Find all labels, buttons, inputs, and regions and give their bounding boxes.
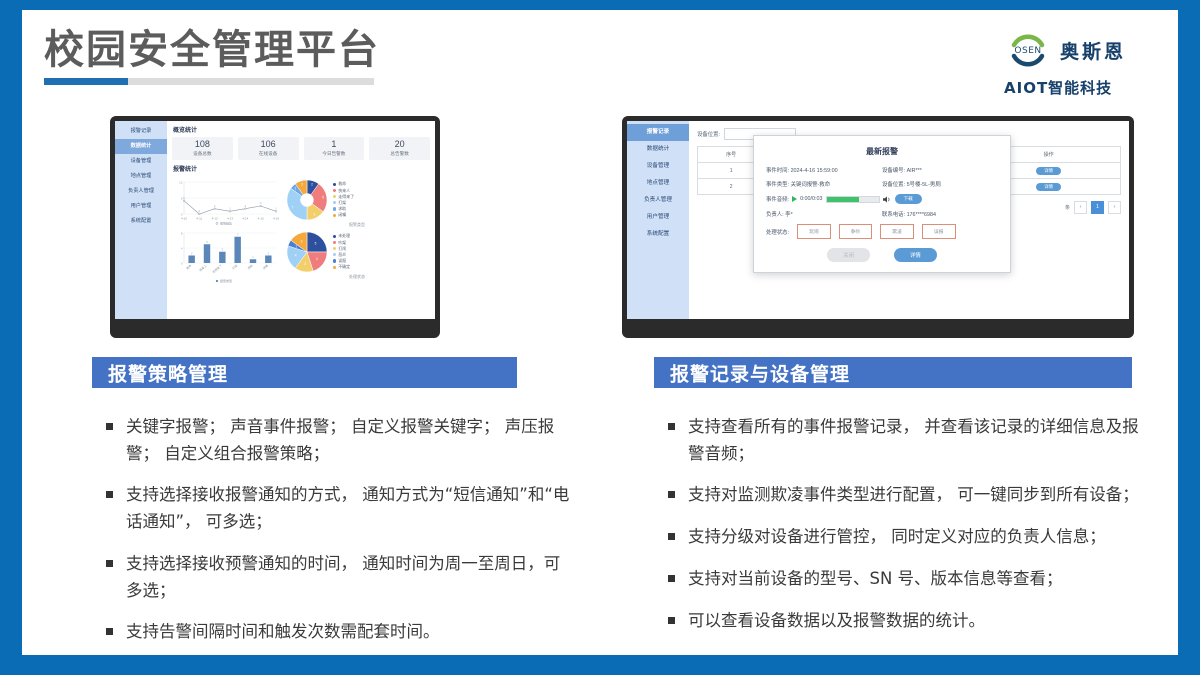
modal-row-audio[interactable]: 事件音频: 0:00/0:03 下载 bbox=[766, 194, 998, 204]
stat-label: 今日告警数 bbox=[304, 151, 365, 157]
event-time-value: 2024-4-16 15:59:00 bbox=[791, 168, 838, 174]
modal-row-time-deviceid: 事件时间: 2024-4-16 15:59:00 设备编号: AIR*** bbox=[766, 166, 998, 174]
sidebar-item-system-config[interactable]: 系统配置 bbox=[115, 214, 167, 229]
detail-button[interactable]: 详情 bbox=[894, 248, 937, 262]
svg-text:3: 3 bbox=[260, 201, 262, 205]
sidebar-item-statistics[interactable]: 数据统计 bbox=[627, 141, 689, 158]
detail-button[interactable]: 详情 bbox=[1036, 167, 1061, 175]
status-option-playful[interactable]: 玩闹 bbox=[797, 224, 831, 239]
status-option-quarrel[interactable]: 争吵 bbox=[839, 224, 873, 239]
stat-label: 在线设备 bbox=[238, 151, 299, 157]
svg-text:5: 5 bbox=[206, 240, 208, 244]
sidebar-item-location-mgmt[interactable]: 地点管理 bbox=[627, 175, 689, 192]
svg-text:4-13: 4-13 bbox=[227, 216, 233, 220]
sidebar-item-device-mgmt[interactable]: 设备管理 bbox=[115, 154, 167, 169]
list-item: 支持选择接收报警通知的方式， 通知方式为“短信通知”和“电话通知”， 可多选； bbox=[100, 482, 570, 535]
left-dashboard-sidebar[interactable]: 报警记录 数据统计 设备管理 地点管理 负责人管理 用户管理 系统配置 bbox=[115, 121, 167, 319]
list-item: 支持分级对设备进行管控， 同时定义对应的负责人信息； bbox=[662, 524, 1140, 551]
pagination-next-icon[interactable]: › bbox=[1108, 201, 1121, 214]
osen-ring-icon: OSEN bbox=[1004, 26, 1052, 74]
legend-item: 走得来了 bbox=[333, 194, 354, 200]
bullet-list-right: 支持查看所有的事件报警记录， 并查看该记录的详细信息及报警音频； 支持对监测欺凌… bbox=[662, 414, 1140, 649]
sidebar-item-alarm-records[interactable]: 报警记录 bbox=[115, 124, 167, 139]
svg-text:4-12: 4-12 bbox=[212, 216, 218, 220]
stat-value: 1 bbox=[304, 140, 365, 150]
list-item: 可以查看设备数据以及报警数据的统计。 bbox=[662, 608, 1140, 635]
title-underline-accent bbox=[44, 78, 128, 85]
alarm-statistics-heading: 报警统计 bbox=[173, 164, 430, 173]
svg-text:2: 2 bbox=[301, 182, 303, 186]
svg-text:2: 2 bbox=[268, 251, 270, 255]
pagination-page-1[interactable]: 1 bbox=[1091, 201, 1104, 214]
list-item: 支持对监测欺凌事件类型进行配置， 可一键同步到所有设备； bbox=[662, 482, 1140, 509]
event-type-value: 关键词报警-救命 bbox=[791, 182, 831, 188]
alarm-type-bar-chart: 0482救命5快来人3走得来了7打架1求助2闭嘴报警类型 bbox=[172, 227, 280, 283]
svg-text:5: 5 bbox=[322, 195, 324, 199]
stat-label: 总告警数 bbox=[369, 151, 430, 157]
svg-text:OSEN: OSEN bbox=[1014, 46, 1041, 56]
owner-value: 李* bbox=[785, 212, 793, 218]
svg-text:4: 4 bbox=[316, 257, 318, 261]
svg-text:1: 1 bbox=[275, 206, 277, 210]
modal-title: 最新报警 bbox=[766, 146, 998, 157]
svg-text:4-10: 4-10 bbox=[181, 216, 187, 220]
owner-label: 负责人: bbox=[766, 212, 784, 218]
detail-button[interactable]: 详情 bbox=[1036, 183, 1061, 191]
sidebar-item-device-mgmt[interactable]: 设备管理 bbox=[627, 158, 689, 175]
device-id-label: 设备编号: bbox=[882, 168, 905, 174]
svg-text:0: 0 bbox=[199, 209, 201, 213]
logo-tagline: AIOT智能科技 bbox=[1004, 77, 1164, 98]
page-title-block: 校园安全管理平台 bbox=[44, 28, 380, 85]
device-id-value: AIR*** bbox=[907, 168, 922, 174]
right-records-screenshot: 报警记录 数据统计 设备管理 地点管理 负责人管理 用户管理 系统配置 设备位置… bbox=[622, 116, 1134, 338]
legend-item: 未处理 bbox=[333, 233, 350, 239]
stat-value: 106 bbox=[238, 140, 299, 150]
stat-card-total-devices: 108 设备总数 bbox=[172, 137, 233, 160]
list-item: 关键字报警； 声音事件报警； 自定义报警关键字； 声压报警； 自定义组合报警策略… bbox=[100, 414, 570, 467]
svg-text:1: 1 bbox=[295, 186, 297, 190]
left-dashboard-screenshot: 报警记录 数据统计 设备管理 地点管理 负责人管理 用户管理 系统配置 概览统计… bbox=[110, 116, 440, 338]
list-item: 支持选择接收预警通知的时间， 通知时间为周一至周日，可多选； bbox=[100, 551, 570, 604]
slide-canvas: 校园安全管理平台 OSEN 奥斯恩 AIOT智能科技 报警记录 数据统计 设备管 bbox=[22, 10, 1178, 655]
stat-label: 设备总数 bbox=[172, 151, 233, 157]
svg-text:1: 1 bbox=[229, 206, 231, 210]
bullet-list-left: 关键字报警； 声音事件报警； 自定义报警关键字； 声压报警； 自定义组合报警策略… bbox=[100, 414, 570, 661]
volume-icon[interactable] bbox=[883, 196, 892, 203]
svg-text:2: 2 bbox=[311, 182, 313, 186]
svg-text:5: 5 bbox=[315, 241, 317, 245]
svg-text:救命: 救命 bbox=[185, 263, 193, 271]
svg-text:4: 4 bbox=[181, 246, 183, 250]
handling-status-pie-legend: 未处理吵架打闹恶炎误报不确定 bbox=[330, 233, 350, 270]
list-item: 支持查看所有的事件报警记录， 并查看该记录的详细信息及报警音频； bbox=[662, 414, 1140, 467]
brand-logo: OSEN 奥斯恩 AIOT智能科技 bbox=[1004, 26, 1164, 96]
logo-company-name: 奥斯恩 bbox=[1060, 37, 1126, 64]
sidebar-item-user-mgmt[interactable]: 用户管理 bbox=[115, 199, 167, 214]
svg-text:7: 7 bbox=[292, 205, 294, 209]
svg-text:打架: 打架 bbox=[231, 263, 239, 271]
event-time-label: 事件时间: bbox=[766, 168, 789, 174]
event-type-label: 事件类型: bbox=[766, 182, 789, 188]
svg-text:1: 1 bbox=[295, 244, 297, 248]
pagination-total-label: 条 bbox=[1065, 204, 1070, 211]
sidebar-item-user-mgmt[interactable]: 用户管理 bbox=[627, 209, 689, 226]
sidebar-item-system-config[interactable]: 系统配置 bbox=[627, 226, 689, 243]
modal-row-owner-phone: 负责人: 李* 联系电话: 176****6984 bbox=[766, 210, 998, 218]
svg-text:3: 3 bbox=[301, 239, 303, 243]
svg-text:快来人: 快来人 bbox=[198, 263, 208, 272]
stat-value: 108 bbox=[172, 140, 233, 150]
phone-label: 联系电话: bbox=[882, 212, 905, 218]
alarm-type-pie-legend: 救命快来人走得来了打架求助闭嘴 bbox=[330, 181, 354, 218]
right-records-sidebar[interactable]: 报警记录 数据统计 设备管理 地点管理 负责人管理 用户管理 系统配置 bbox=[627, 121, 689, 319]
device-location-label: 设备位置: bbox=[882, 182, 905, 188]
svg-text:闭嘴: 闭嘴 bbox=[261, 263, 269, 271]
stat-card-row: 108 设备总数 106 在线设备 1 今日告警数 20 bbox=[172, 137, 430, 160]
section-heading-right: 报警记录与设备管理 bbox=[670, 359, 850, 386]
download-audio-button[interactable]: 下载 bbox=[895, 194, 922, 204]
svg-text:3: 3 bbox=[304, 262, 306, 266]
overview-heading: 概览统计 bbox=[173, 125, 430, 134]
svg-text:2: 2 bbox=[245, 204, 247, 208]
sidebar-item-statistics[interactable]: 数据统计 bbox=[115, 139, 167, 154]
status-option-false-alarm[interactable]: 误报 bbox=[922, 224, 956, 239]
list-item: 支持对当前设备的型号、SN 号、版本信息等查看； bbox=[662, 566, 1140, 593]
modal-row-status[interactable]: 处理状态: 玩闹 争吵 欺凌 误报 bbox=[766, 224, 998, 239]
stat-card-today-alarms: 1 今日告警数 bbox=[304, 137, 365, 160]
alarm-type-pie-chart: 253712 bbox=[284, 177, 330, 223]
svg-text:1: 1 bbox=[252, 255, 254, 259]
stat-card-online-devices: 106 在线设备 bbox=[238, 137, 299, 160]
event-audio-label: 事件音频: bbox=[766, 195, 789, 203]
filter-label: 设备位置: bbox=[697, 130, 720, 138]
title-underline bbox=[44, 78, 374, 85]
legend-item: 不确定 bbox=[333, 264, 350, 270]
sidebar-item-owner-mgmt[interactable]: 负责人管理 bbox=[627, 192, 689, 209]
play-icon[interactable] bbox=[792, 196, 797, 202]
list-item: 支持告警间隔时间和触发次数需配套时间。 bbox=[100, 619, 570, 646]
audio-progress-slider[interactable] bbox=[826, 196, 880, 203]
section-banner-left: 报警策略管理 bbox=[92, 357, 517, 388]
device-location-value: 5号楼-5L-男厕 bbox=[907, 182, 941, 188]
status-option-bullying[interactable]: 欺凌 bbox=[880, 224, 914, 239]
svg-text:2: 2 bbox=[191, 251, 193, 255]
phone-value: 176****6984 bbox=[907, 212, 936, 218]
svg-text:报警趋势: 报警趋势 bbox=[220, 220, 232, 225]
section-banner-right: 报警记录与设备管理 bbox=[654, 357, 1132, 388]
legend-item: 闭嘴 bbox=[333, 212, 354, 218]
page-title: 校园安全管理平台 bbox=[44, 28, 380, 72]
stat-value: 20 bbox=[369, 140, 430, 150]
section-heading-left: 报警策略管理 bbox=[108, 359, 228, 386]
svg-text:3: 3 bbox=[313, 212, 315, 216]
latest-alarm-modal: 最新报警 事件时间: 2024-4-16 15:59:00 设备编号: AIR*… bbox=[753, 135, 1011, 273]
svg-text:12: 12 bbox=[179, 180, 183, 184]
audio-time: 0:00/0:03 bbox=[800, 196, 822, 202]
sidebar-item-alarm-records[interactable]: 报警记录 bbox=[627, 124, 689, 141]
svg-text:8: 8 bbox=[181, 231, 183, 235]
sidebar-item-owner-mgmt[interactable]: 负责人管理 bbox=[115, 184, 167, 199]
svg-text:4: 4 bbox=[295, 254, 297, 258]
svg-text:0: 0 bbox=[181, 261, 183, 265]
svg-text:4-16: 4-16 bbox=[273, 216, 279, 220]
svg-text:4-14: 4-14 bbox=[242, 216, 248, 220]
alarm-trend-line-chart: 061254-1004-1124-1214-1324-1434-1514-16报… bbox=[172, 177, 280, 225]
close-button[interactable]: 关闭 bbox=[827, 248, 870, 262]
modal-footer: 关闭 详情 bbox=[766, 248, 998, 262]
handling-status-pie-chart: 543413 bbox=[284, 229, 330, 275]
svg-text:求助: 求助 bbox=[246, 263, 254, 271]
svg-text:4-15: 4-15 bbox=[258, 216, 264, 220]
modal-row-type-location: 事件类型: 关键词报警-救命 设备位置: 5号楼-5L-男厕 bbox=[766, 180, 998, 188]
svg-text:报警类型: 报警类型 bbox=[220, 278, 232, 283]
handling-status-label: 处理状态: bbox=[766, 228, 789, 236]
svg-text:走得来了: 走得来了 bbox=[211, 263, 223, 274]
pagination-prev-icon[interactable]: ‹ bbox=[1074, 201, 1087, 214]
svg-text:2: 2 bbox=[214, 204, 216, 208]
sidebar-item-location-mgmt[interactable]: 地点管理 bbox=[115, 169, 167, 184]
stat-card-total-alarms: 20 总告警数 bbox=[369, 137, 430, 160]
svg-text:4-11: 4-11 bbox=[196, 216, 202, 220]
